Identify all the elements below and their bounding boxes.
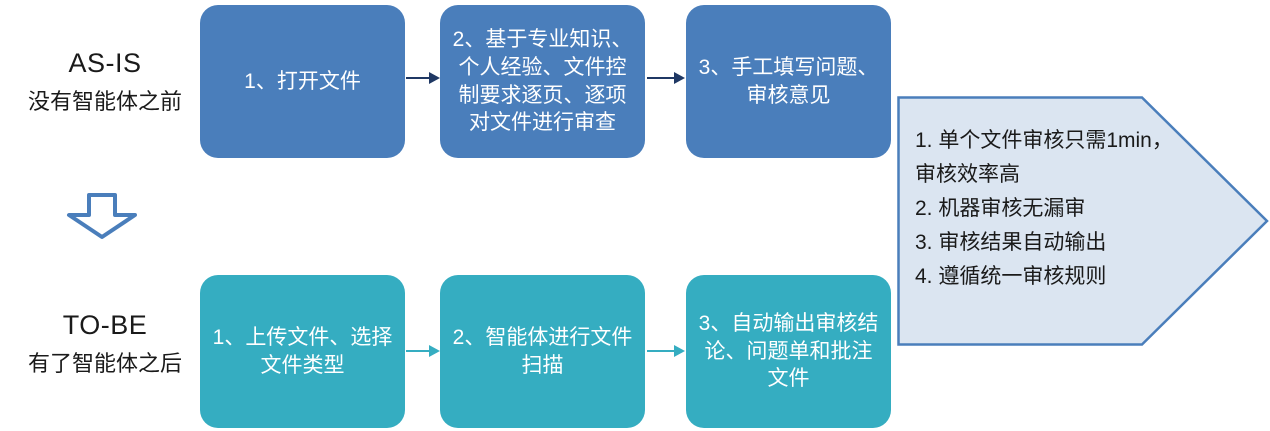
to-be-step-1[interactable]: 1、上传文件、选择文件类型 [200,275,405,428]
to-be-step-2-label: 2、智能体进行文件扫描 [452,324,633,379]
as-is-connector-1-2 [406,71,440,85]
as-is-subheading: 没有智能体之前 [10,91,200,113]
arrow-head-icon [429,345,440,357]
benefits-callout: 1. 单个文件审核只需1min， 审核效率高 2. 机器审核无漏审 3. 审核结… [897,96,1269,346]
benefit-item-1-line-2: 审核效率高 [915,158,1215,192]
as-is-step-3[interactable]: 3、手工填写问题、审核意见 [686,5,891,158]
to-be-step-2[interactable]: 2、智能体进行文件扫描 [440,275,645,428]
arrow-head-icon [674,72,685,84]
as-is-step-1[interactable]: 1、打开文件 [200,5,405,158]
arrow-head-icon [429,72,440,84]
to-be-connector-1-2 [406,344,440,358]
to-be-step-1-label: 1、上传文件、选择文件类型 [212,324,393,379]
to-be-step-3[interactable]: 3、自动输出审核结论、问题单和批注文件 [686,275,891,428]
to-be-subheading: 有了智能体之后 [10,353,200,375]
down-arrow-icon [63,192,141,240]
to-be-step-3-label: 3、自动输出审核结论、问题单和批注文件 [698,310,879,393]
benefit-item-4: 4. 遵循统一审核规则 [915,260,1215,294]
as-is-row-label: AS-IS 没有智能体之前 [10,50,200,113]
as-is-heading: AS-IS [10,50,200,77]
benefit-item-1-line-1: 1. 单个文件审核只需1min， [915,124,1215,158]
arrow-shaft [647,350,674,352]
to-be-row-label: TO-BE 有了智能体之后 [10,312,200,375]
diagram-canvas: AS-IS 没有智能体之前 1、打开文件 2、基于专业知识、个人经验、文件控制要… [0,0,1270,431]
as-is-step-2-label: 2、基于专业知识、个人经验、文件控制要求逐页、逐项对文件进行审查 [452,26,633,137]
to-be-heading: TO-BE [10,312,200,339]
arrow-shaft [406,350,429,352]
as-is-connector-2-3 [647,71,685,85]
as-is-step-1-label: 1、打开文件 [244,68,361,96]
arrow-head-icon [674,345,685,357]
arrow-shaft [647,77,674,79]
as-is-step-2[interactable]: 2、基于专业知识、个人经验、文件控制要求逐页、逐项对文件进行审查 [440,5,645,158]
as-is-step-3-label: 3、手工填写问题、审核意见 [698,54,879,109]
benefit-item-2: 2. 机器审核无漏审 [915,192,1215,226]
arrow-shaft [406,77,429,79]
benefit-item-3: 3. 审核结果自动输出 [915,226,1215,260]
benefits-list: 1. 单个文件审核只需1min， 审核效率高 2. 机器审核无漏审 3. 审核结… [915,124,1215,294]
to-be-connector-2-3 [647,344,685,358]
